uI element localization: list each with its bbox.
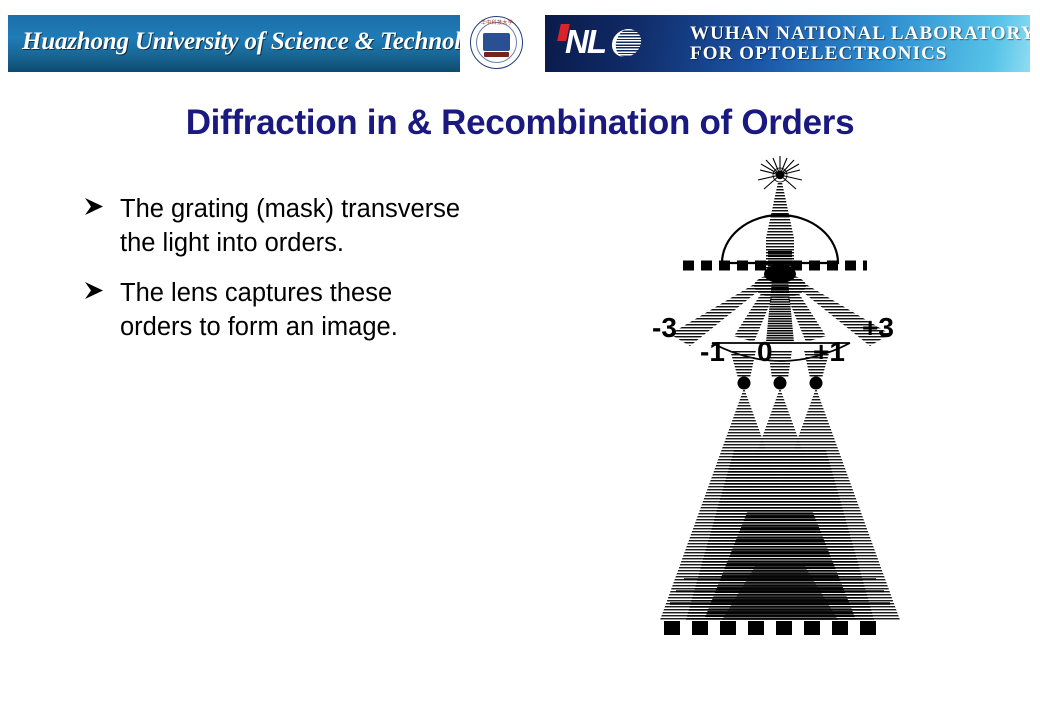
header-banner: Huazhong University of Science & Technol… xyxy=(8,15,1030,72)
order-label-zero: 0 xyxy=(757,338,773,366)
list-item: The lens captures these orders to form a… xyxy=(78,276,598,344)
nlo-logo-letters: NL xyxy=(565,25,605,59)
nlo-striped-o-icon xyxy=(610,29,643,57)
bullet-list: The grating (mask) transverse the light … xyxy=(78,192,598,360)
hust-university-banner: Huazhong University of Science & Technol… xyxy=(8,15,460,72)
three-order-point-dots-icon xyxy=(738,377,823,390)
optics-diagram-canvas xyxy=(630,150,930,660)
list-item: The grating (mask) transverse the light … xyxy=(78,192,598,260)
nlo-banner-line1: WUHAN NATIONAL LABORATORY xyxy=(690,24,1030,44)
hust-university-seal-icon: 华中科技大学 xyxy=(470,16,525,71)
list-item-label: The lens captures these orders to form a… xyxy=(120,276,598,344)
order-label-plus-three: +3 xyxy=(862,314,894,342)
arrowhead-bullet-icon xyxy=(82,278,108,304)
diffraction-orders-optics-diagram: -3 -1 0 +1 +3 xyxy=(630,150,930,660)
arrowhead-bullet-icon xyxy=(82,194,108,220)
list-item-label: The grating (mask) transverse the light … xyxy=(120,192,598,260)
nlo-laboratory-banner: NL WUHAN NATIONAL LABORATORY FOR OPTOELE… xyxy=(545,15,1030,72)
nlo-banner-title: WUHAN NATIONAL LABORATORY FOR OPTOELECTR… xyxy=(690,24,1030,64)
order-label-plus-one: +1 xyxy=(813,338,845,366)
seal-center-banner xyxy=(484,52,509,57)
page-title: Diffraction in & Recombination of Orders xyxy=(0,103,1040,143)
hust-banner-title: Huazhong University of Science & Technol… xyxy=(22,28,452,56)
order-label-minus-three: -3 xyxy=(652,314,677,342)
nlo-banner-line2: FOR OPTOELECTRONICS xyxy=(690,44,1030,64)
order-label-minus-one: -1 xyxy=(700,338,725,366)
seal-rim-text: 华中科技大学 xyxy=(480,19,514,26)
nlo-logo-icon: NL xyxy=(555,23,675,65)
seal-center-emblem xyxy=(483,33,510,51)
